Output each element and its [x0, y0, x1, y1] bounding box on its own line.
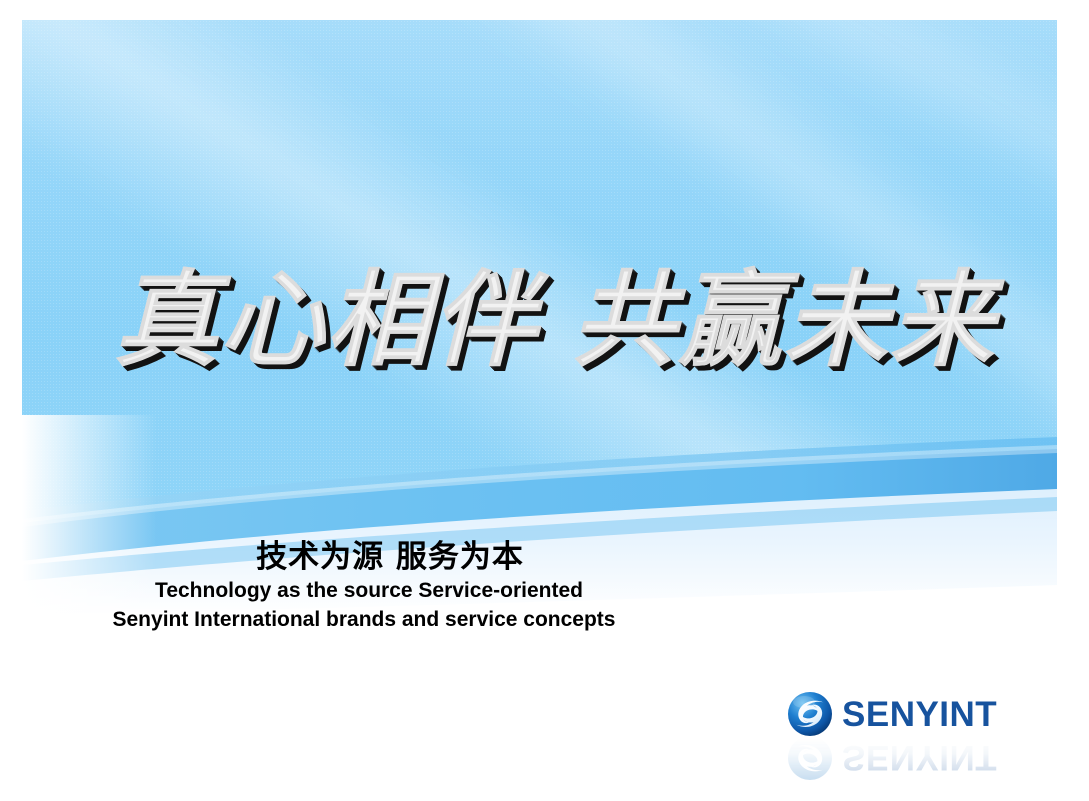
logo-reflection: SENYINT [787, 738, 1037, 780]
senyint-wordmark-reflection: SENYINT [842, 741, 997, 776]
logo-reflection-lockup: SENYINT [787, 738, 1037, 780]
senyint-sphere-swoosh-icon [787, 691, 833, 737]
slide-subtitle-block: 技术为源 服务为本 Technology as the source Servi… [44, 538, 684, 635]
senyint-logo: SENYINT SENYINT [787, 690, 1037, 780]
title-part-1: 真心相伴 [114, 259, 538, 381]
senyint-sphere-swoosh-reflection-icon [787, 738, 833, 780]
logo-lockup: SENYINT [787, 690, 1037, 738]
subtitle-english-line-1: Technology as the source Service-oriente… [44, 576, 684, 605]
slide-title: 真心相伴共赢未来 [114, 266, 1044, 375]
subtitle-english-line-2: Senyint International brands and service… [44, 605, 684, 635]
title-part-2: 共赢未来 [572, 259, 996, 381]
senyint-wordmark: SENYINT [842, 697, 997, 732]
presentation-slide: 真心相伴共赢未来 技术为源 服务为本 Technology as the sou… [0, 0, 1089, 801]
subtitle-chinese: 技术为源 服务为本 [44, 538, 684, 576]
slide-canvas: 真心相伴共赢未来 技术为源 服务为本 Technology as the sou… [22, 20, 1057, 780]
